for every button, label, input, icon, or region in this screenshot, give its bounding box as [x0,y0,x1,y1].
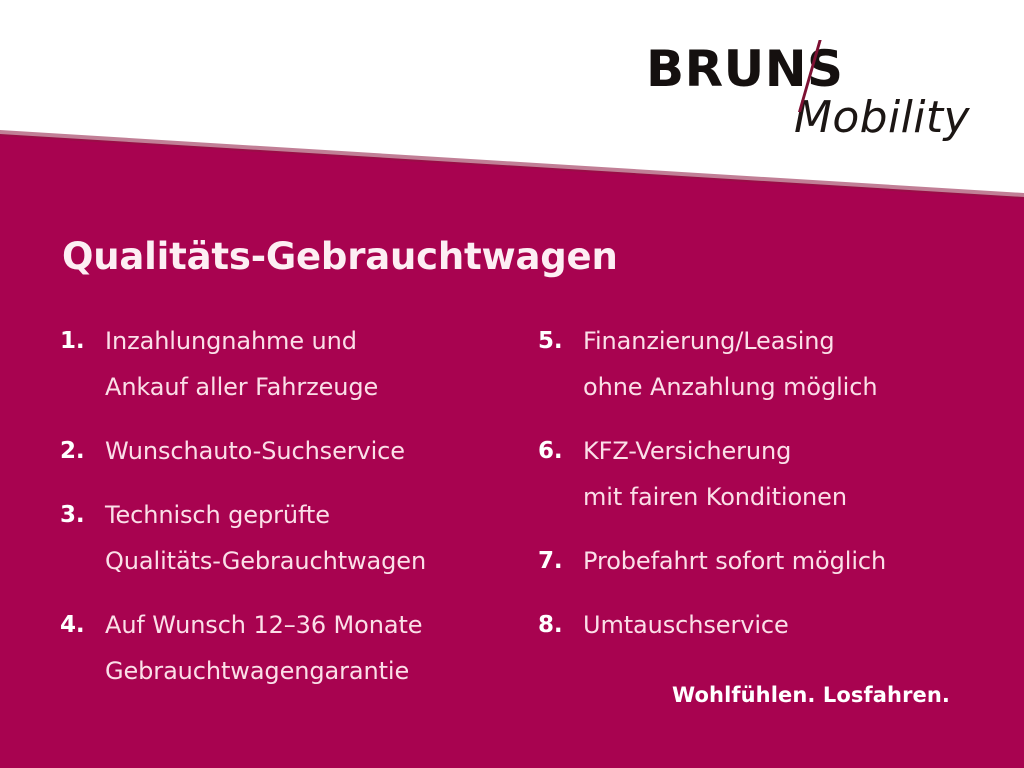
service-column-left: 1. Inzahlungnahme und Ankauf aller Fahrz… [60,318,530,712]
list-item-line: Technisch geprüfte [105,492,530,538]
list-item: 7. Probefahrt sofort möglich [538,538,1008,584]
list-item-line: Probefahrt sofort möglich [583,538,1008,584]
list-item-line: Ankauf aller Fahrzeuge [105,364,530,410]
list-item: 3. Technisch geprüfte Qualitäts-Gebrauch… [60,492,530,584]
list-item-line: Auf Wunsch 12–36 Monate [105,602,530,648]
list-item: 5. Finanzierung/Leasing ohne Anzahlung m… [538,318,1008,410]
list-item: 6. KFZ-Versicherung mit fairen Kondition… [538,428,1008,520]
list-item-number: 4. [60,602,85,648]
list-item-line: ohne Anzahlung möglich [583,364,1008,410]
list-item-number: 6. [538,428,563,474]
list-item-number: 7. [538,538,563,584]
list-item: 1. Inzahlungnahme und Ankauf aller Fahrz… [60,318,530,410]
slide-content: Qualitäts-Gebrauchtwagen 1. Inzahlungnah… [0,0,1024,768]
list-item-line: Wunschauto-Suchservice [105,428,530,474]
service-list-left: 1. Inzahlungnahme und Ankauf aller Fahrz… [60,318,530,694]
slide-root: BRUNS Mobility Qualitäts-Gebrauchtwagen … [0,0,1024,768]
service-list-right: 5. Finanzierung/Leasing ohne Anzahlung m… [538,318,1008,648]
list-item-number: 5. [538,318,563,364]
page-title: Qualitäts-Gebrauchtwagen [62,235,618,279]
list-item-number: 1. [60,318,85,364]
list-item-line: Finanzierung/Leasing [583,318,1008,364]
list-item-number: 3. [60,492,85,538]
service-column-right: 5. Finanzierung/Leasing ohne Anzahlung m… [538,318,1008,666]
list-item-line: mit fairen Konditionen [583,474,1008,520]
tagline: Wohlfühlen. Losfahren. [672,682,950,708]
list-item-line: Qualitäts-Gebrauchtwagen [105,538,530,584]
list-item-line: Inzahlungnahme und [105,318,530,364]
list-item-line: Gebrauchtwagengarantie [105,648,530,694]
list-item-number: 8. [538,602,563,648]
list-item-line: Umtauschservice [583,602,1008,648]
list-item: 8. Umtauschservice [538,602,1008,648]
list-item: 2. Wunschauto-Suchservice [60,428,530,474]
list-item-line: KFZ-Versicherung [583,428,1008,474]
list-item: 4. Auf Wunsch 12–36 Monate Gebrauchtwage… [60,602,530,694]
list-item-number: 2. [60,428,85,474]
